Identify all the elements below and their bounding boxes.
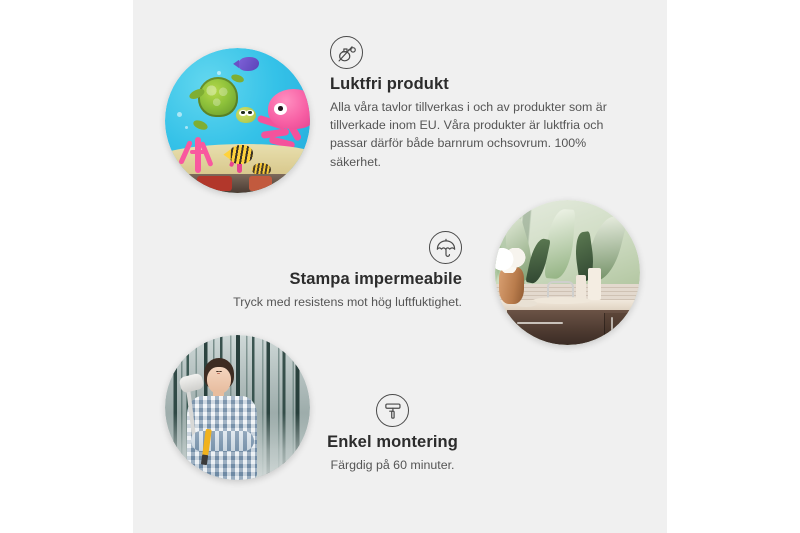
feature-title: Enkel montering bbox=[300, 433, 485, 453]
feature-description: Färgdig på 60 minuter. bbox=[300, 456, 485, 474]
feature-block-waterproof: Stampa impermeabile Tryck med resistens … bbox=[200, 231, 462, 311]
feature-block-odourless: Luktfri produkt Alla våra tavlor tillver… bbox=[330, 36, 620, 171]
no-smell-perfume-bottle-icon bbox=[330, 36, 363, 69]
feature-description: Alla våra tavlor tillverkas i och av pro… bbox=[330, 98, 620, 171]
feature-title: Luktfri produkt bbox=[330, 75, 620, 95]
paint-roller-icon bbox=[376, 394, 409, 427]
bubble-icon bbox=[177, 112, 182, 117]
woman-figure bbox=[177, 358, 267, 480]
coral-illustration bbox=[177, 129, 221, 173]
feature-block-easy-mounting: Enkel montering Färgdig på 60 minuter. bbox=[300, 394, 485, 474]
bathroom-tropical-wallpaper-photo bbox=[495, 200, 640, 345]
underwater-kids-mural-photo bbox=[165, 48, 310, 193]
toiletry-bottle bbox=[588, 268, 601, 300]
feature-title: Stampa impermeabile bbox=[200, 270, 462, 290]
toiletry-bottle bbox=[576, 275, 586, 300]
feature-description: Tryck med resistens mot hög luftfuktighe… bbox=[200, 293, 462, 311]
yellow-striped-fish-illustration bbox=[229, 145, 254, 164]
umbrella-icon bbox=[429, 231, 462, 264]
wooden-vanity-cabinet bbox=[507, 310, 640, 345]
woman-paint-roller-forest-photo bbox=[165, 335, 310, 480]
promo-canvas: Luktfri produkt Alla våra tavlor tillver… bbox=[0, 0, 800, 533]
turtle-illustration bbox=[188, 77, 249, 126]
photo-foreground-strip bbox=[165, 174, 310, 193]
white-flowers bbox=[495, 248, 528, 273]
